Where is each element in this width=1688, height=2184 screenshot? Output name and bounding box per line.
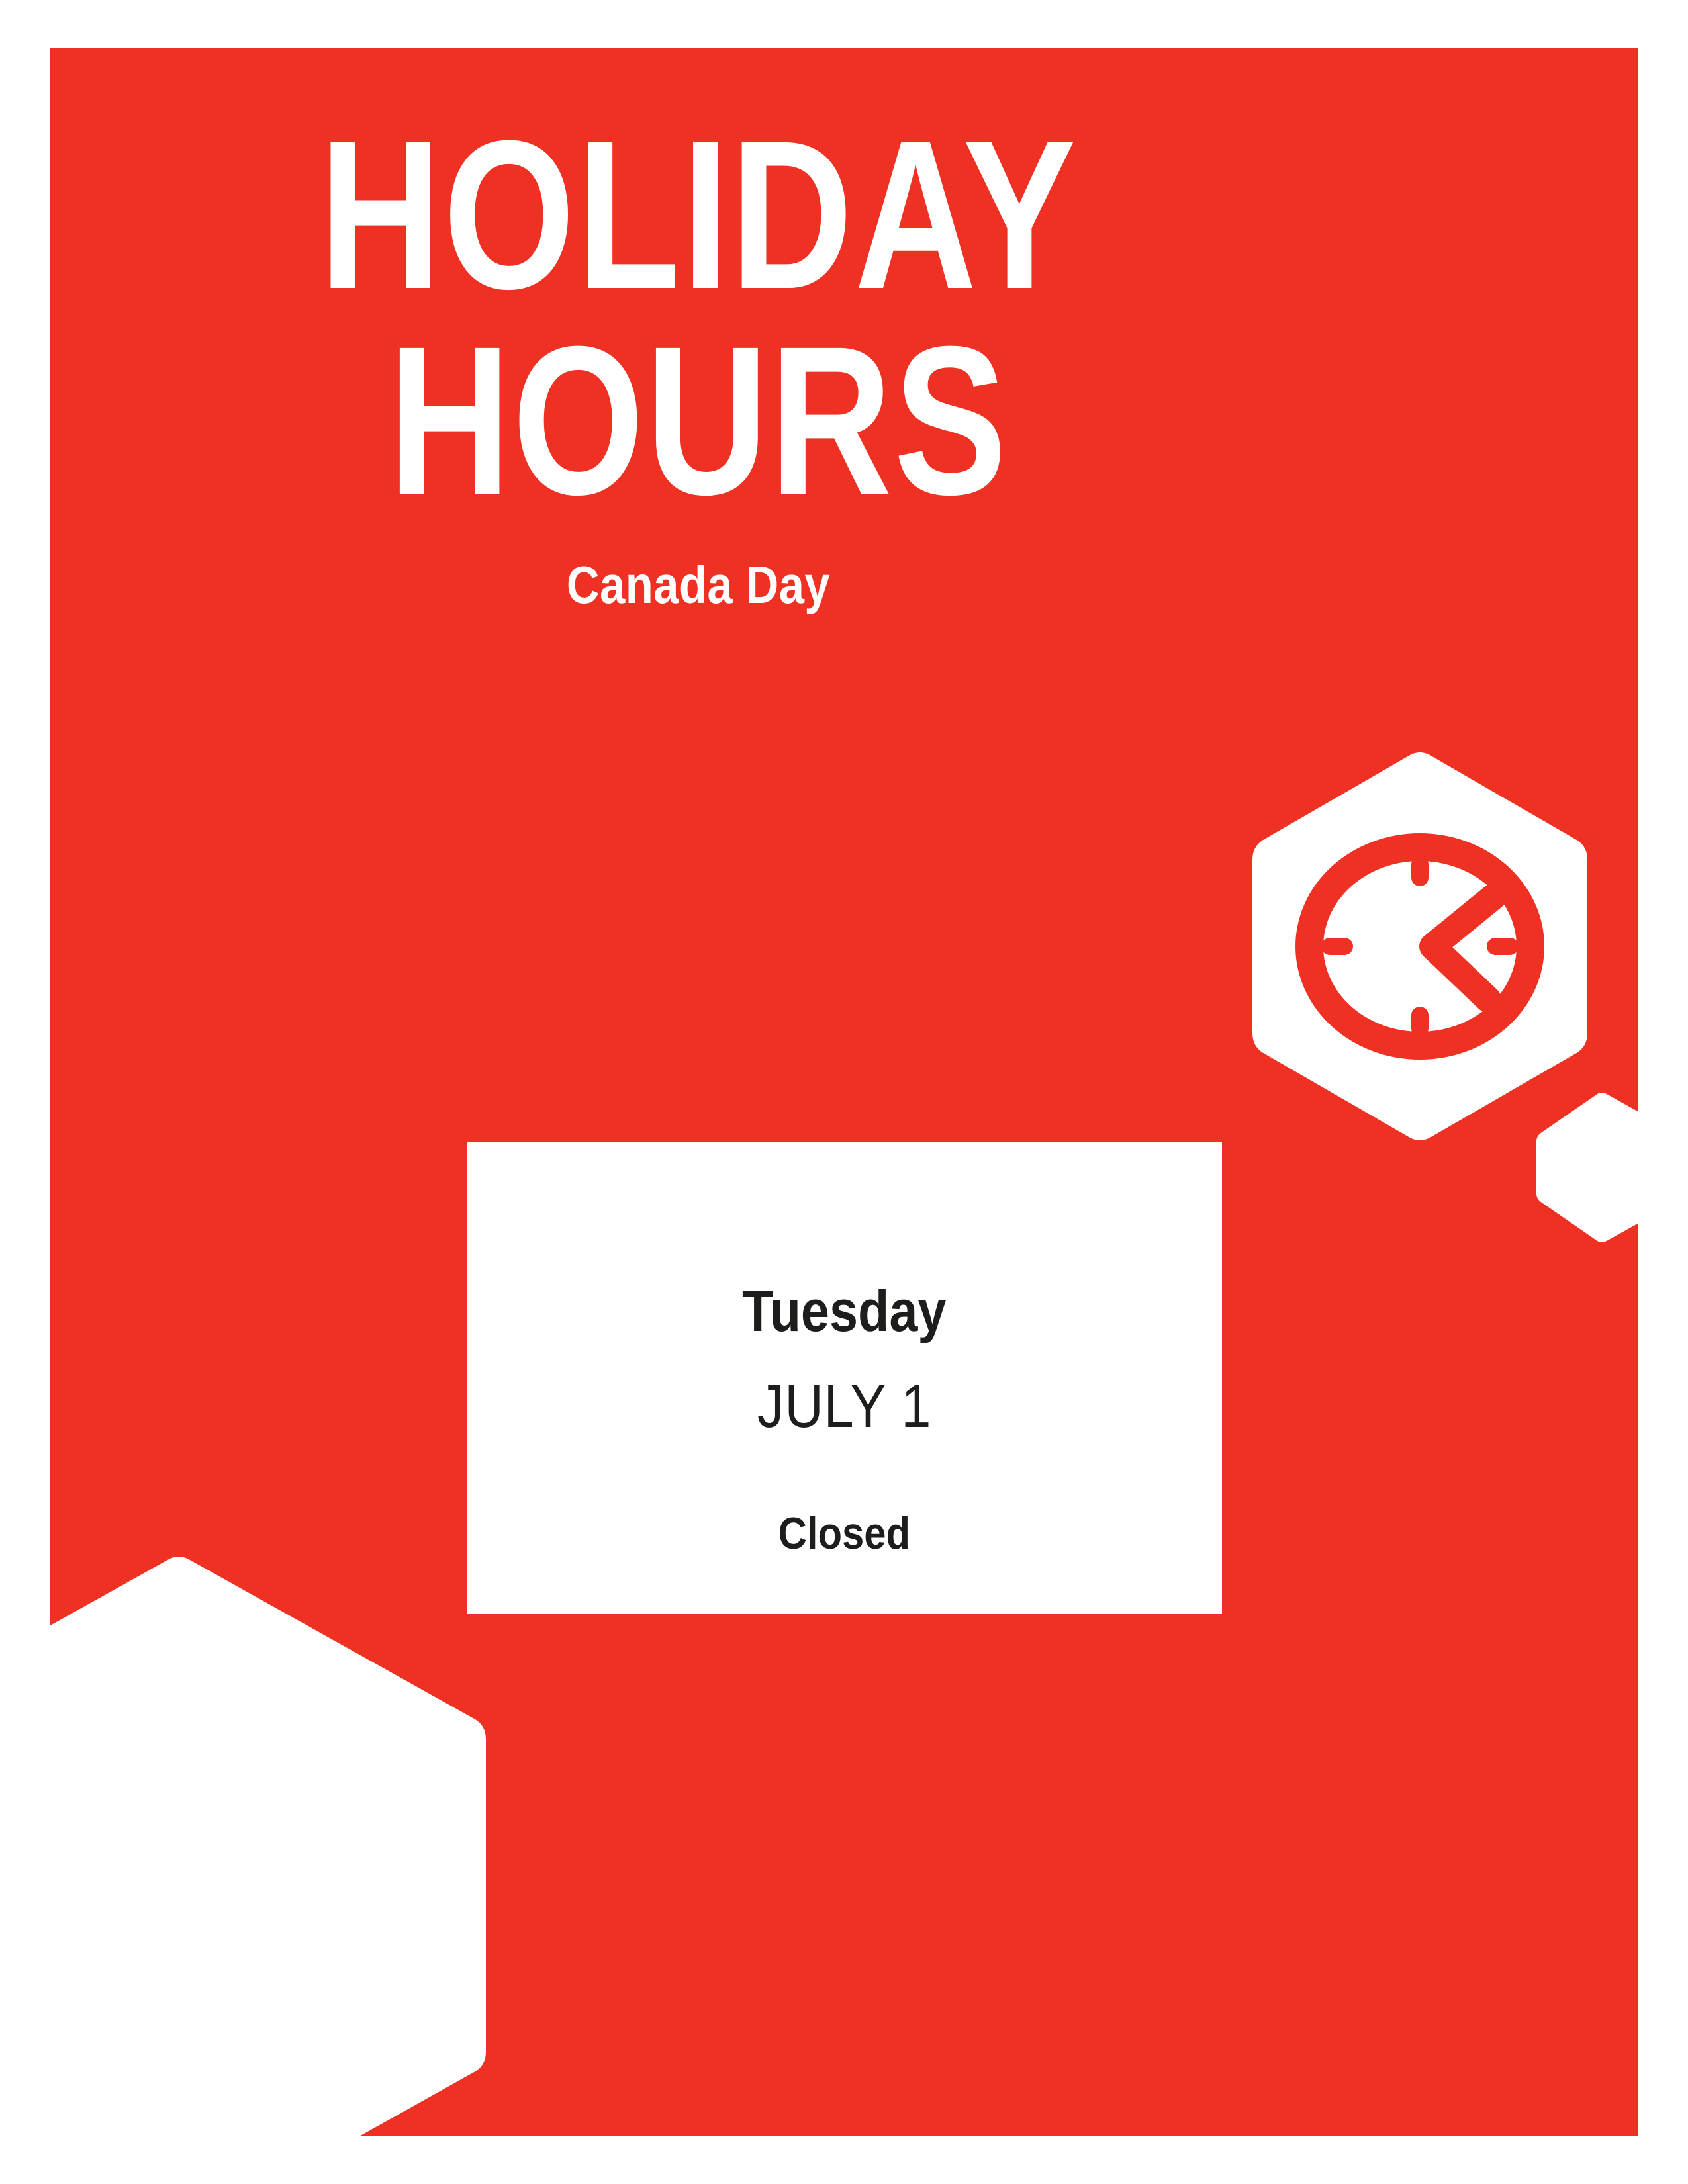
- holiday-date: JULY 1: [757, 1376, 931, 1437]
- hexagon-decor-bottom-left: [0, 1549, 496, 2184]
- page-subtitle: Canada Day: [140, 559, 1256, 612]
- title-line-2: HOURS: [179, 332, 1217, 510]
- holiday-day-of-week: Tuesday: [742, 1282, 946, 1340]
- page-title: HOLIDAY HOURS Canada Day: [50, 126, 1347, 612]
- holiday-info-card: Tuesday JULY 1 Closed: [467, 1142, 1222, 1614]
- clock-icon: [1252, 750, 1587, 1143]
- title-line-1: HOLIDAY: [179, 126, 1217, 304]
- status-badge: Closed: [778, 1511, 911, 1556]
- holiday-hours-poster: HOLIDAY HOURS Canada Day Tuesday JULY 1 …: [0, 0, 1688, 2184]
